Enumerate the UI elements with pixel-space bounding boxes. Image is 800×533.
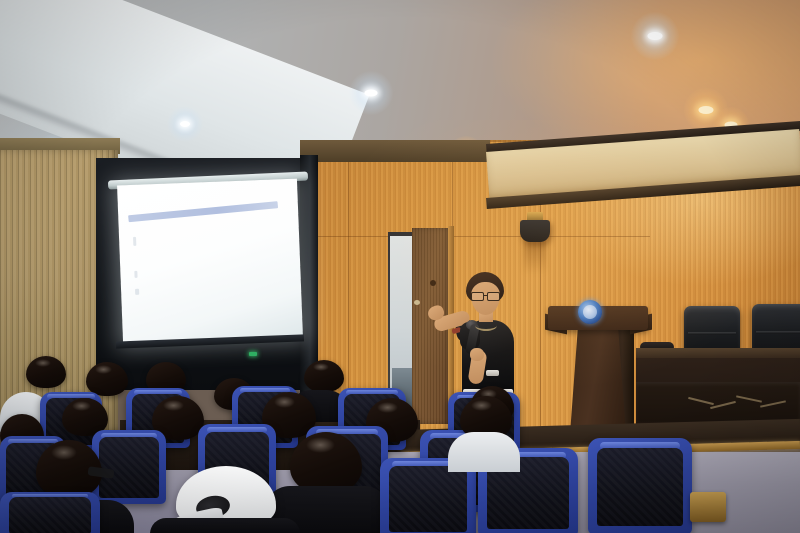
door-handle-icon: [414, 300, 420, 305]
projection-screen: [117, 179, 303, 344]
seat-armrest: [690, 492, 726, 522]
screen-title-bar: [128, 201, 278, 222]
eyeglasses-icon: [471, 292, 500, 299]
ceiling-downlight-icon: [631, 12, 679, 60]
institution-seal-inner: [583, 305, 597, 319]
speaker-hand-holding-mic: [470, 348, 484, 361]
auditorium-photo: [0, 0, 800, 533]
audience-shoulders: [150, 518, 300, 533]
audience-head: [26, 356, 66, 388]
wall-speaker-icon: [520, 220, 550, 242]
executive-chair: [684, 306, 740, 354]
audience-head: [290, 432, 362, 494]
head-table-panel: [636, 382, 800, 422]
status-led-icon: [249, 352, 257, 356]
audience-head: [86, 362, 128, 396]
auditorium-seat: [588, 438, 692, 533]
ceiling-downlight-icon: [349, 71, 393, 115]
executive-chair: [752, 304, 800, 354]
lectern-body: [570, 328, 626, 434]
wall-upper-recess: [300, 140, 490, 162]
wall-speaker-shadow: [524, 240, 546, 274]
necklace: [475, 320, 497, 331]
audience-shoulders: [448, 432, 520, 472]
auditorium-seat: [0, 492, 100, 533]
ceiling-downlight-icon: [167, 106, 203, 142]
wristwatch-icon: [486, 370, 499, 376]
auditorium-seat: [92, 430, 166, 504]
wall-mullion: [300, 155, 318, 395]
audience-head: [304, 360, 344, 392]
